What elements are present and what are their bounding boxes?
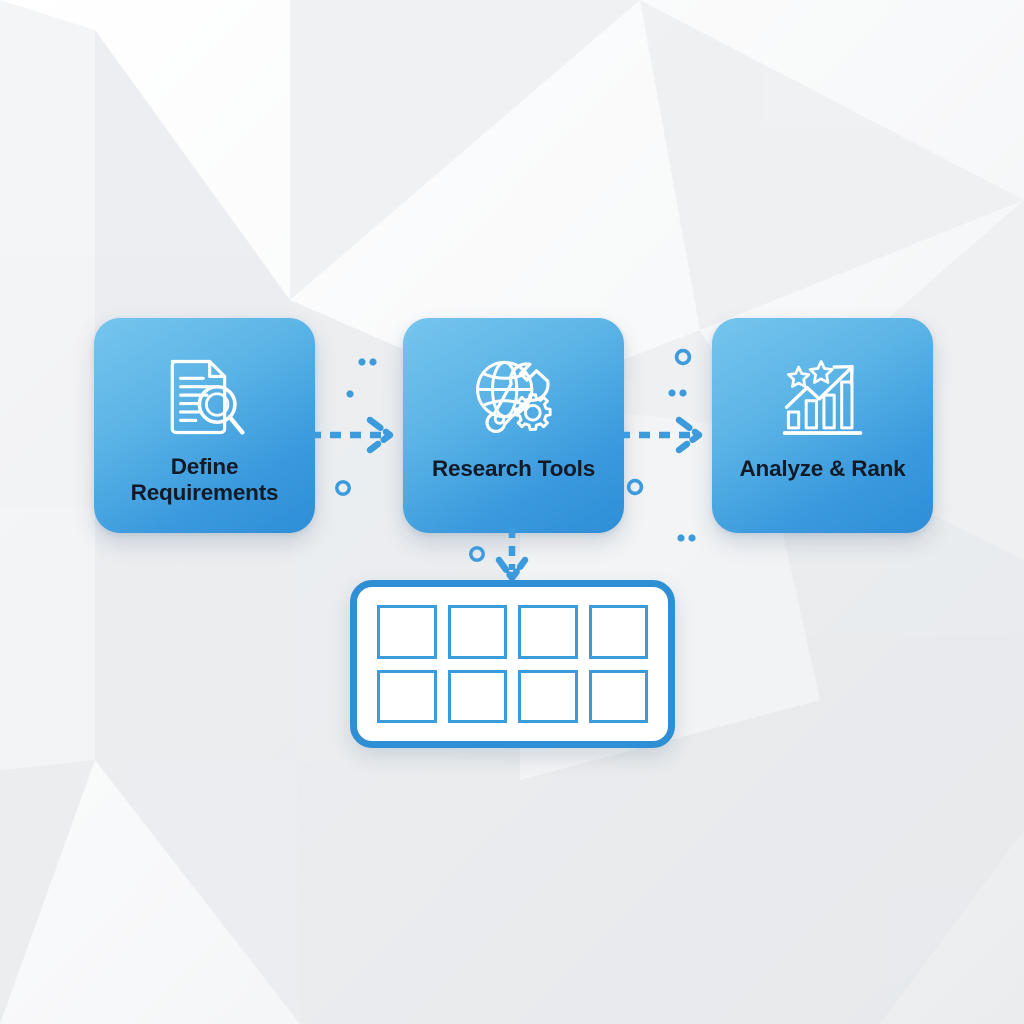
results-grid-cell[interactable]: [448, 670, 508, 724]
process-card-label-line1: Research Tools: [432, 456, 595, 481]
growth-chart-stars-icon: [777, 354, 869, 440]
results-grid-cell[interactable]: [518, 670, 578, 724]
process-card-label: Define Requirements: [105, 454, 305, 507]
process-card-research-tools[interactable]: Research Tools: [403, 318, 624, 533]
diagram-canvas: Define Requirements Research Tools: [0, 0, 1024, 1024]
document-magnifier-icon: [159, 354, 251, 440]
connector-arrow-step2-to-step3: [619, 340, 719, 560]
results-grid-cell[interactable]: [377, 670, 437, 724]
connector-arrow-step1-to-step2: [310, 350, 410, 550]
process-card-label-line1: Define: [171, 454, 239, 479]
process-card-define-requirements[interactable]: Define Requirements: [94, 318, 315, 533]
process-card-label-line1: Analyze & Rank: [739, 456, 905, 481]
process-card-label: Research Tools: [414, 456, 614, 482]
results-grid-panel[interactable]: [350, 580, 675, 748]
globe-wrench-gear-icon: [468, 354, 560, 440]
results-grid-cell[interactable]: [518, 605, 578, 659]
process-card-label: Analyze & Rank: [723, 456, 923, 482]
results-grid-cell[interactable]: [589, 670, 649, 724]
results-grid-cell[interactable]: [448, 605, 508, 659]
results-grid-cell[interactable]: [589, 605, 649, 659]
process-card-label-line2: Requirements: [131, 480, 279, 505]
process-card-analyze-rank[interactable]: Analyze & Rank: [712, 318, 933, 533]
results-grid-cell[interactable]: [377, 605, 437, 659]
